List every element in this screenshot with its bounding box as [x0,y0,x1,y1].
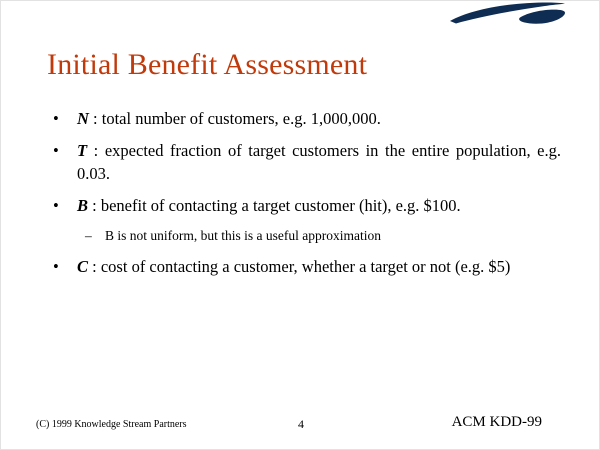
footer-conference: ACM KDD-99 [452,413,542,432]
bullet-marker: • [53,255,59,278]
bullet-variable: T [77,141,87,160]
slide-body: •N : total number of customers, e.g. 1,0… [47,107,561,287]
sub-bullet-text: B is not uniform, but this is a useful a… [105,228,381,243]
bullet-variable: C [77,257,88,276]
bullet-item-c: •C : cost of contacting a customer, whet… [47,255,561,278]
bullet-variable: N [77,109,89,128]
bullet-marker: • [53,107,59,130]
presentation-slide: Initial Benefit Assessment •N : total nu… [0,0,600,450]
bullet-item-n: •N : total number of customers, e.g. 1,0… [47,107,561,130]
bullet-separator: : [87,141,105,160]
bullet-separator: : [89,109,102,128]
bullet-text: total number of customers, e.g. 1,000,00… [102,109,381,128]
slide-title: Initial Benefit Assessment [47,47,567,83]
sub-bullet-item-b-note: –B is not uniform, but this is a useful … [47,226,561,246]
sub-bullet-marker: – [85,226,92,246]
bullet-item-t: •T : expected fraction of target custome… [47,139,561,185]
bullet-variable: B [77,196,88,215]
bullet-item-b: •B : benefit of contacting a target cust… [47,194,561,217]
bullet-text: expected fraction of target customers in… [77,141,561,183]
bullet-marker: • [53,194,59,217]
bullet-text: cost of contacting a customer, whether a… [101,257,511,276]
bullet-text: benefit of contacting a target customer … [101,196,461,215]
bullet-marker: • [53,139,59,162]
bullet-separator: : [88,196,101,215]
swoosh-logo [448,1,566,29]
bullet-separator: : [88,257,101,276]
